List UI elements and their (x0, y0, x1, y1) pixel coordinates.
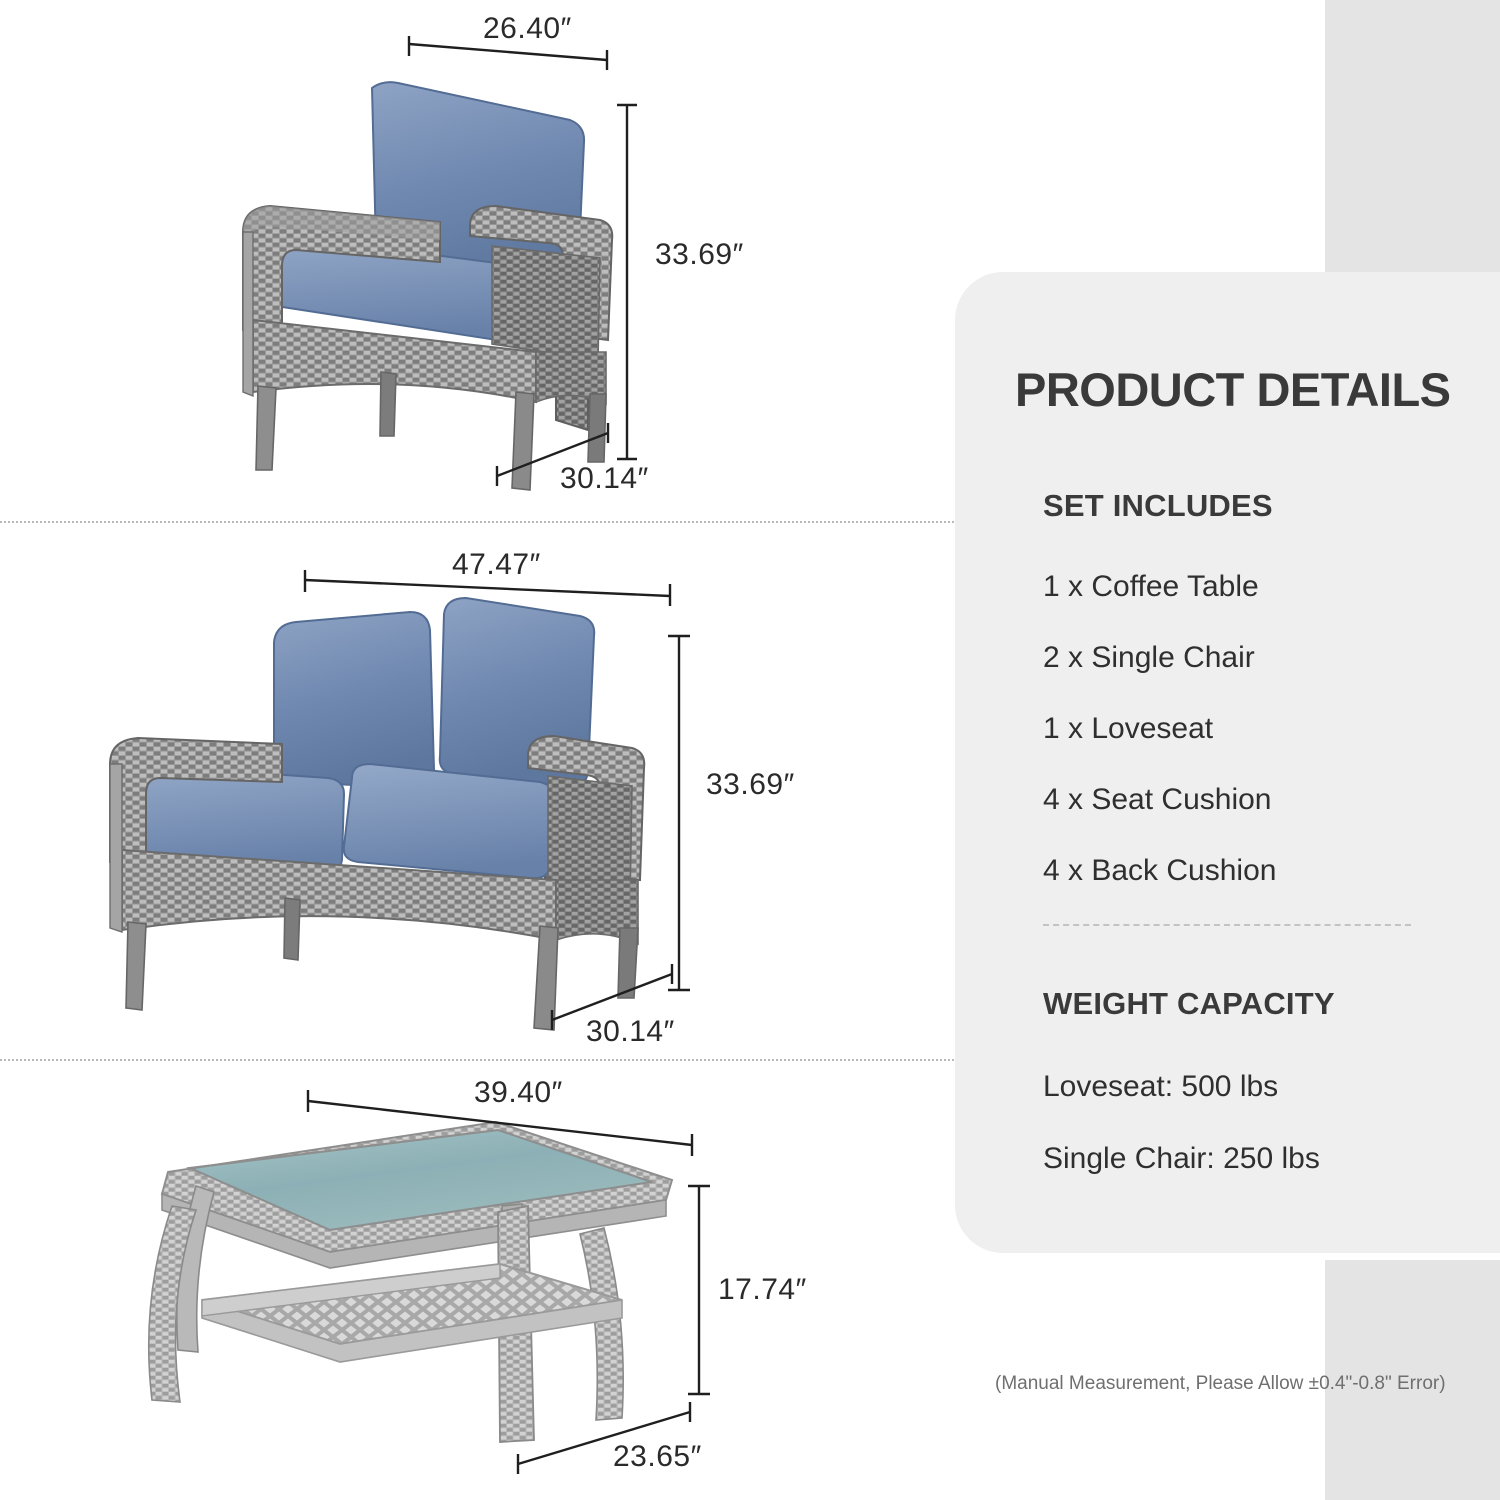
loveseat-depth-label: 30.14″ (586, 1015, 675, 1049)
chair-height-label: 33.69″ (655, 238, 744, 272)
page-title: PRODUCT DETAILS (1015, 362, 1451, 417)
loveseat-illustration (110, 598, 644, 1030)
spec-sheet: 26.40″ 33.69″ 30.14″ 47.47″ 33.69″ 30.14… (0, 0, 1500, 1500)
chair-dimension-lines (409, 36, 637, 486)
loveseat-height-label: 33.69″ (706, 768, 795, 802)
loveseat-width-label: 47.47″ (452, 548, 541, 582)
section-divider-2 (0, 1059, 958, 1061)
chair-depth-label: 30.14″ (560, 462, 649, 496)
decorative-block-top (1325, 0, 1500, 272)
weight-capacity-list: Loveseat: 500 lbs Single Chair: 250 lbs (1043, 1072, 1473, 1216)
measurement-disclaimer: (Manual Measurement, Please Allow ±0.4"-… (995, 1373, 1446, 1395)
coffee-table-illustration (149, 1122, 672, 1442)
list-item: Single Chair: 250 lbs (1043, 1144, 1473, 1174)
single-chair-illustration (243, 82, 612, 490)
weight-capacity-heading: WEIGHT CAPACITY (1043, 986, 1335, 1022)
list-item: 1 x Loveseat (1043, 714, 1463, 744)
loveseat-dimension-lines (305, 570, 690, 1030)
list-item: 1 x Coffee Table (1043, 572, 1463, 602)
list-item: Loveseat: 500 lbs (1043, 1072, 1473, 1102)
table-dimension-lines (308, 1090, 710, 1474)
list-item: 4 x Seat Cushion (1043, 785, 1463, 815)
table-height-label: 17.74″ (718, 1273, 807, 1307)
table-width-label: 39.40″ (474, 1076, 563, 1110)
chair-width-label: 26.40″ (483, 12, 572, 46)
set-includes-list: 1 x Coffee Table 2 x Single Chair 1 x Lo… (1043, 572, 1463, 927)
list-item: 4 x Back Cushion (1043, 856, 1463, 886)
table-depth-label: 23.65″ (613, 1440, 702, 1474)
list-item: 2 x Single Chair (1043, 643, 1463, 673)
section-divider (1043, 924, 1411, 926)
set-includes-heading: SET INCLUDES (1043, 488, 1273, 524)
product-details-panel: PRODUCT DETAILS SET INCLUDES 1 x Coffee … (955, 272, 1500, 1253)
section-divider-1 (0, 521, 958, 523)
